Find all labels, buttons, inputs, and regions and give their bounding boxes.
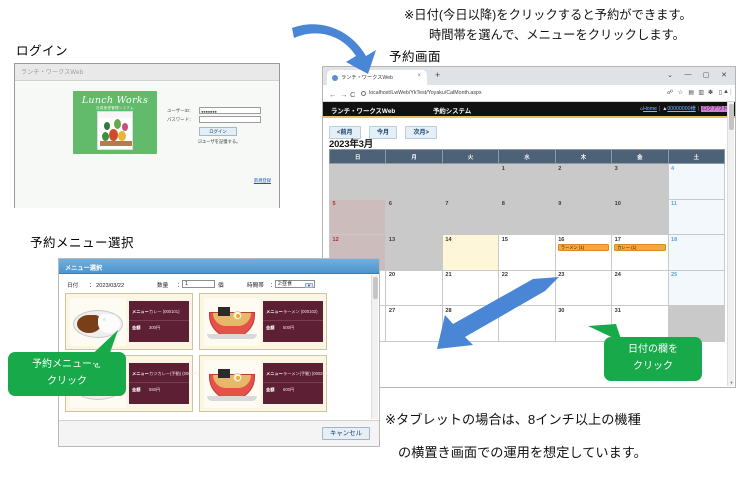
login-submit-button[interactable]: ログイン <box>199 127 237 136</box>
app-header: ランチ・ワークスWeb 予約システム ⌂Home|▲00000000様|ログアウ… <box>323 102 735 116</box>
note-bottom-line1: ※タブレットの場合は、8インチ以上の機種 <box>385 410 641 429</box>
month-label: 2023年3月 <box>329 136 373 150</box>
login-screenshot: ランチ・ワークスWeb Lunch Works 社員食堂管理システム ユーザーI… <box>14 63 280 208</box>
caption-login: ログイン <box>16 40 68 59</box>
menu-card-menu-name: ラーメン(手動) (000202) <box>283 371 329 377</box>
menu-card-divider <box>129 382 189 383</box>
login-password-input[interactable] <box>199 116 261 123</box>
current-month-button[interactable]: 今月 <box>369 126 397 139</box>
app-header-underline <box>323 116 735 118</box>
calendar-day-number: 2 <box>558 166 561 172</box>
caption-reservation-screen: 予約画面 <box>389 46 441 65</box>
calendar-weekday-6: 土 <box>668 150 724 164</box>
window-minimize-icon[interactable]: — <box>683 71 693 78</box>
calendar-day-number: 25 <box>671 272 677 278</box>
calendar-day-empty <box>442 164 498 200</box>
browser-omnibar: ← → C localhost/LwWeb/YkTest/Yoyaku/CalM… <box>323 85 735 102</box>
dialog-parameters: 日付 ： 2023/03/22 数量 ： 1 個 時間帯 ： 2:昼食 ▼ <box>67 280 367 291</box>
next-month-button[interactable]: 次月> <box>405 126 437 139</box>
calendar-day-10[interactable]: 10 <box>612 199 668 235</box>
dialog-titlebar: メニュー選択 <box>59 259 379 274</box>
menu-card[interactable]: メニューラーメン (000102)金額500円 <box>199 293 327 350</box>
reading-list-icon[interactable]: ▤ <box>688 89 694 96</box>
menu-card-menu-label: メニュー <box>266 309 283 315</box>
calendar-day-16[interactable]: 16ラーメン (1) <box>555 235 611 271</box>
scroll-thumb[interactable] <box>729 104 734 130</box>
calendar-day-number: 6 <box>389 201 392 207</box>
calendar-day-3[interactable]: 3 <box>612 164 668 200</box>
calendar-day-number: 9 <box>558 201 561 207</box>
calendar-weekday-5: 金 <box>612 150 668 164</box>
calendar-weekday-3: 水 <box>499 150 555 164</box>
menu-card-menu-name: カレー (000101) <box>149 309 180 315</box>
login-window-body: Lunch Works 社員食堂管理システム ユーザーID： ●●●●●●● パ… <box>15 82 279 208</box>
ramen-image <box>204 360 260 408</box>
login-new-register-link[interactable]: 新規登録 <box>254 178 271 184</box>
tab-close-icon[interactable]: × <box>417 73 421 79</box>
dialog-scrollbar[interactable] <box>371 275 378 419</box>
extensions-icon[interactable]: ✽ <box>708 89 713 96</box>
menu-card-divider <box>263 320 323 321</box>
calendar-scrollbar[interactable]: ▲ ▼ <box>727 102 734 386</box>
calendar-day-number: 24 <box>615 272 621 278</box>
menu-card[interactable]: メニューラーメン(手動) (000202)金額600円 <box>199 355 327 412</box>
month-navigation: <前月 今月 次月> <box>329 121 441 134</box>
calendar-day-18[interactable]: 18 <box>668 235 724 271</box>
calendar-day-17[interactable]: 17カレー (1) <box>612 235 668 271</box>
sidepanel-icon[interactable]: ▯ <box>719 89 722 96</box>
dialog-qty-input[interactable]: 1 <box>182 280 215 288</box>
dialog-time-label: 時間帯 <box>247 281 264 289</box>
calendar-week-row: 1213141516ラーメン (1)17カレー (1)18 <box>330 235 725 271</box>
menu-card-menu-name: カツカレー(手動) (000201) <box>149 371 199 377</box>
nav-user-label: 00000000様 <box>667 106 695 112</box>
calendar-day-number: 12 <box>333 237 339 243</box>
dialog-title: メニュー選択 <box>65 263 102 272</box>
calendar-day-number: 14 <box>445 237 451 243</box>
calendar-weekday-2: 火 <box>442 150 498 164</box>
menu-card-price-label: 金額 <box>266 325 274 331</box>
calendar-week-row: 567891011 <box>330 199 725 235</box>
callout-menu-click-tail <box>80 330 150 370</box>
calendar-day-7[interactable]: 7 <box>442 199 498 235</box>
menu-card-divider <box>263 382 323 383</box>
calendar-weekday-0: 日 <box>330 150 386 164</box>
calendar-day-14[interactable]: 14 <box>442 235 498 271</box>
ramen-image <box>204 298 260 346</box>
login-form: ユーザーID： ●●●●●●● パスワード： ログイン ☑ユーザを記憶する。 <box>167 108 267 126</box>
menu-card-price-value: 550円 <box>149 387 160 393</box>
login-field-row: パスワード： <box>167 117 267 125</box>
calendar-day-8[interactable]: 8 <box>499 199 555 235</box>
url-text: localhost/LwWeb/YkTest/Yoyaku/CalMonth.a… <box>369 90 482 96</box>
calendar-day-6[interactable]: 6 <box>386 199 442 235</box>
login-illustration <box>97 111 133 150</box>
calendar-event-badge[interactable]: カレー (1) <box>614 244 665 251</box>
callout-date-click-line2: クリック <box>604 358 702 375</box>
calendar-day-24[interactable]: 24 <box>612 270 668 306</box>
calendar-week-row: 1234 <box>330 164 725 200</box>
dialog-scroll-thumb[interactable] <box>373 277 378 299</box>
calendar-day-number: 18 <box>671 237 677 243</box>
calendar-day-11[interactable]: 11 <box>668 199 724 235</box>
login-userid-value: ●●●●●●● <box>201 109 217 114</box>
menu-card-price-value: 500円 <box>283 325 294 331</box>
nav-home-link[interactable]: Home <box>643 106 657 112</box>
calendar-day-number: 8 <box>502 201 505 207</box>
calendar-day-13[interactable]: 13 <box>386 235 442 271</box>
chevron-down-icon[interactable]: ▼ <box>305 283 313 289</box>
calendar-day-4[interactable]: 4 <box>668 164 724 200</box>
note-bottom-line2: の横置き画面での運用を想定しています。 <box>398 443 647 462</box>
app-brand: ランチ・ワークスWeb <box>331 106 395 115</box>
url-input[interactable]: localhost/LwWeb/YkTest/Yoyaku/CalMonth.a… <box>359 89 689 99</box>
window-collapse-icon[interactable]: ⌄ <box>665 71 675 79</box>
dialog-time-select[interactable]: 2:昼食 ▼ <box>275 280 315 288</box>
menu-card-price-value: 300円 <box>149 325 160 331</box>
calendar-day-number: 15 <box>502 237 508 243</box>
calendar-day-1[interactable]: 1 <box>499 164 555 200</box>
note-top-line2: 時間帯を選んで、メニューをクリックします。 <box>429 26 685 45</box>
calendar-day-empty <box>668 306 724 342</box>
calendar-day-empty <box>330 164 386 200</box>
site-info-icon <box>361 91 366 96</box>
dialog-date-label: 日付 <box>67 281 78 289</box>
arrow-login-to-browser <box>288 22 388 78</box>
calendar-day-number: 27 <box>389 308 395 314</box>
scroll-down-icon[interactable]: ▼ <box>729 380 734 385</box>
dialog-time-value: 2:昼食 <box>278 281 292 287</box>
dialog-qty-label: 数量 <box>157 281 168 289</box>
caption-menu-select: 予約メニュー選択 <box>30 232 134 251</box>
star-icon[interactable]: ☆ <box>678 89 683 96</box>
calendar-weekday-4: 木 <box>555 150 611 164</box>
menu-card-divider <box>129 320 189 321</box>
nav-logout-link[interactable]: ログアウト <box>701 106 729 112</box>
calendar-day-5[interactable]: 5 <box>330 199 386 235</box>
new-tab-button[interactable]: + <box>435 71 440 80</box>
calendar-day-number: 7 <box>445 201 448 207</box>
menu-card-price-label: 金額 <box>132 387 140 393</box>
calendar-day-number: 17 <box>615 237 621 243</box>
calendar-day-number: 11 <box>671 201 677 207</box>
calendar-day-9[interactable]: 9 <box>555 199 611 235</box>
cancel-button[interactable]: キャンセル <box>322 427 370 440</box>
calendar-event-badge[interactable]: ラーメン (1) <box>558 244 609 251</box>
login-field-row: ユーザーID： ●●●●●●● <box>167 108 267 116</box>
login-brand-title: Lunch Works <box>73 95 157 106</box>
calendar-day-25[interactable]: 25 <box>668 270 724 306</box>
menu-card-info: メニューラーメン(手動) (000202)金額600円 <box>263 363 323 404</box>
back-icon[interactable]: ← <box>329 90 337 99</box>
calendar-day-number: 13 <box>389 237 395 243</box>
dialog-date-value: ： 2023/03/22 <box>89 281 124 289</box>
app-nav-right: ⌂Home|▲00000000様|ログアウト <box>640 105 729 112</box>
login-window-title: ランチ・ワークスWeb <box>21 67 83 76</box>
dialog-qty-unit: 個 <box>218 281 224 289</box>
login-window-titlebar: ランチ・ワークスWeb <box>15 64 279 81</box>
calendar-header-row: 日月火水木金土 <box>330 150 725 164</box>
dialog-footer: キャンセル <box>59 420 379 446</box>
calendar-day-number: 3 <box>615 166 618 172</box>
nav-separator-1: | <box>657 106 662 112</box>
note-top-line1: ※日付(今日以降)をクリックすると予約ができます。 <box>404 6 692 25</box>
login-password-label: パスワード： <box>167 117 193 123</box>
reload-icon[interactable]: C <box>350 90 355 99</box>
menu-card-info: メニューラーメン (000102)金額500円 <box>263 301 323 342</box>
forward-icon[interactable]: → <box>340 90 348 99</box>
cast-icon[interactable]: ▥ <box>698 89 704 96</box>
login-userid-input[interactable]: ●●●●●●● <box>199 107 261 114</box>
menu-card-menu-label: メニュー <box>132 371 149 377</box>
calendar-day-empty <box>386 164 442 200</box>
calendar-day-number: 4 <box>671 166 674 172</box>
calendar-day-number: 31 <box>615 308 621 314</box>
menu-card-menu-label: メニュー <box>132 309 149 315</box>
login-remember-checkbox[interactable]: ☑ユーザを記憶する。 <box>198 139 240 145</box>
calendar-day-number: 10 <box>615 201 621 207</box>
menu-card-menu-label: メニュー <box>266 371 283 377</box>
login-userid-label: ユーザーID： <box>167 108 193 114</box>
calendar-day-number: 16 <box>558 237 564 243</box>
callout-date-click-tail <box>586 322 636 352</box>
menu-card-menu-name: ラーメン (000102) <box>283 309 318 315</box>
arrow-calendar-to-dialog <box>425 275 565 355</box>
bookmark-icon[interactable]: ☍ <box>667 89 673 96</box>
calendar-day-number: 5 <box>333 201 336 207</box>
calendar-day-number: 1 <box>502 166 505 172</box>
window-close-icon[interactable]: ✕ <box>719 71 729 79</box>
calendar-day-number: 20 <box>389 272 395 278</box>
app-system-name: 予約システム <box>433 106 471 115</box>
window-maximize-icon[interactable]: ▢ <box>701 71 711 79</box>
calendar-weekday-1: 月 <box>386 150 442 164</box>
menu-card-price-label: 金額 <box>266 387 274 393</box>
calendar-day-15[interactable]: 15 <box>499 235 555 271</box>
login-brand-card: Lunch Works 社員食堂管理システム <box>73 91 157 154</box>
calendar-day-2[interactable]: 2 <box>555 164 611 200</box>
callout-menu-click-line2: クリック <box>8 373 126 390</box>
menu-card-price-value: 600円 <box>283 387 294 393</box>
menu-icon[interactable]: ⋮ <box>728 89 734 96</box>
